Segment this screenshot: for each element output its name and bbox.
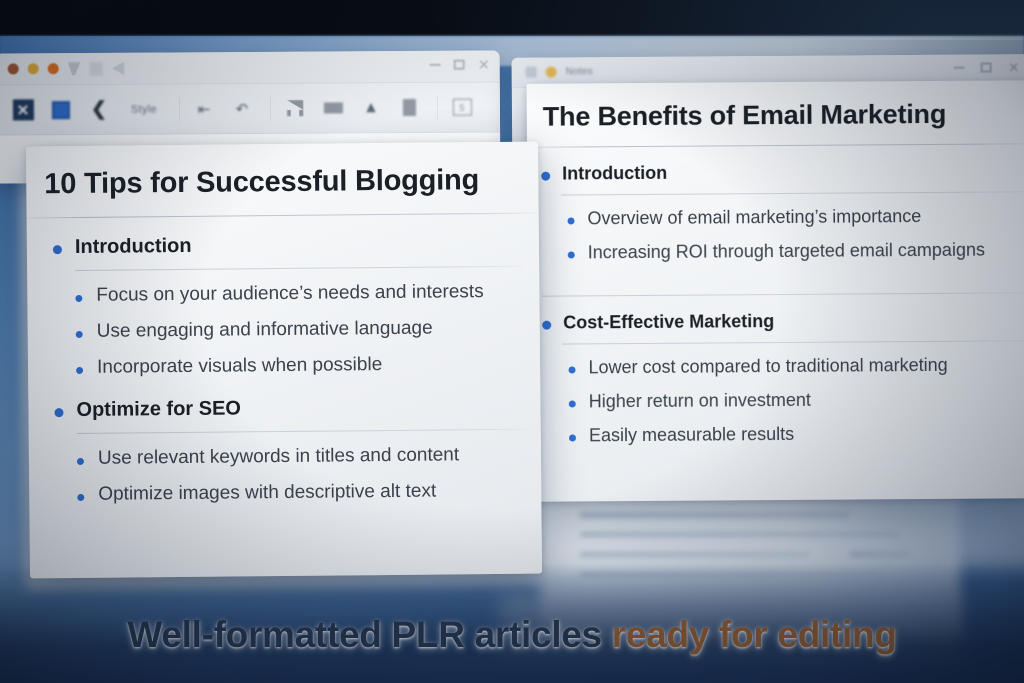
list-bullet-icon — [77, 494, 84, 501]
left-window-controls[interactable]: ✕ — [430, 60, 490, 70]
list-item-text: Focus on your audience’s needs and inter… — [96, 281, 483, 307]
toolbar-separator — [437, 95, 438, 119]
section-heading: Cost-Effective Marketing — [563, 311, 774, 333]
undo-icon[interactable]: ↶ — [225, 93, 259, 123]
section-heading: Optimize for SEO — [76, 397, 241, 422]
document-card-blogging[interactable]: 10 Tips for Successful Blogging Introduc… — [26, 142, 542, 579]
list-item: Use engaging and informative language — [27, 303, 539, 344]
list-item: Lower cost compared to traditional marke… — [528, 341, 1024, 379]
section-heading-row: Cost-Effective Marketing — [528, 293, 1024, 334]
list-bullet-icon — [75, 295, 82, 302]
table-icon[interactable] — [44, 95, 78, 125]
section-heading: Introduction — [562, 163, 667, 185]
document-title: The Benefits of Email Marketing — [527, 80, 1024, 147]
indent-left-icon[interactable]: ⇤ — [187, 94, 221, 124]
page-ghost-icon[interactable] — [90, 61, 103, 75]
screenshot-stage: ✕ ✕ ❮ Style ⇤ ↶ ▲ 5 Notes — [0, 0, 1024, 683]
list-item: Higher return on investment — [529, 375, 1024, 413]
list-item: Focus on your audience’s needs and inter… — [27, 267, 539, 308]
section-heading: Introduction — [75, 235, 192, 259]
delete-icon[interactable] — [392, 92, 426, 122]
toolbar-separator — [270, 96, 271, 120]
list-item-text: Lower cost compared to traditional marke… — [588, 355, 947, 379]
background-top-band — [0, 0, 1024, 40]
minimize-traffic-light[interactable] — [28, 63, 39, 74]
close-button[interactable]: ✕ — [1008, 62, 1020, 72]
right-window-controls[interactable]: ✕ — [954, 62, 1020, 72]
list-bullet-icon — [569, 434, 576, 441]
back-ghost-icon[interactable] — [112, 61, 125, 75]
list-item-text: Higher return on investment — [589, 390, 811, 413]
list-item-text: Use engaging and informative language — [97, 318, 433, 343]
list-bullet-icon — [568, 251, 575, 258]
caption-accent-text: ready for editing — [612, 614, 897, 655]
list-item-text: Overview of email marketing’s importance — [587, 206, 921, 229]
section-bullet-icon — [542, 321, 551, 330]
list-bullet-icon — [77, 458, 84, 465]
check-ghost-icon[interactable] — [68, 62, 81, 76]
list-item-text: Incorporate visuals when possible — [97, 354, 382, 379]
list-bullet-icon — [76, 367, 83, 374]
tab-ghost-icon[interactable] — [526, 67, 537, 78]
list-item: Incorporate visuals when possible — [28, 339, 540, 380]
list-item-text: Optimize images with descriptive alt tex… — [98, 481, 436, 506]
list-bullet-icon — [569, 366, 576, 373]
list-item: Overview of email marketing’s importance — [527, 192, 1024, 230]
toolbar-separator — [179, 97, 180, 121]
left-window-titlebar[interactable]: ✕ — [0, 50, 500, 85]
list-bullet-icon — [76, 331, 83, 338]
save-icon[interactable] — [278, 93, 312, 123]
left-window-toolbar[interactable]: ✕ ❮ Style ⇤ ↶ ▲ 5 — [0, 82, 500, 135]
export-x-icon[interactable]: ✕ — [6, 95, 40, 125]
section-bullet-icon — [541, 172, 550, 181]
section-bullet-icon — [53, 245, 62, 254]
tab-title[interactable]: Notes — [566, 66, 593, 77]
section-bullet-icon — [54, 408, 63, 417]
align-icon[interactable] — [316, 93, 350, 123]
restore-button[interactable] — [981, 62, 992, 72]
section-heading-row: Introduction — [527, 144, 1024, 185]
back-arrow-icon[interactable]: ❮ — [82, 94, 116, 124]
favicon-icon — [546, 67, 557, 78]
list-bullet-icon — [567, 217, 574, 224]
style-label[interactable]: Style — [120, 94, 168, 124]
background-text-line — [580, 552, 810, 557]
list-item: Increasing ROI through targeted email ca… — [528, 226, 1024, 264]
insert-icon[interactable]: ▲ — [354, 93, 388, 123]
close-button[interactable]: ✕ — [478, 60, 490, 70]
list-item: Use relevant keywords in titles and cont… — [29, 430, 541, 471]
caption-strong-text: Well-formatted PLR articles — [127, 614, 601, 655]
document-title: 10 Tips for Successful Blogging — [26, 142, 539, 218]
list-item-text: Use relevant keywords in titles and cont… — [98, 444, 459, 469]
page-number-icon[interactable]: 5 — [445, 92, 479, 122]
list-item: Easily measurable results — [529, 409, 1024, 447]
section-heading-row: Introduction — [27, 214, 539, 260]
close-traffic-light[interactable] — [8, 63, 19, 74]
caption-overlay: Well-formatted PLR articles ready for ed… — [0, 614, 1024, 655]
section-heading-row: Optimize for SEO — [28, 375, 540, 423]
maximize-traffic-light[interactable] — [48, 63, 59, 74]
list-bullet-icon — [569, 400, 576, 407]
list-item-text: Increasing ROI through targeted email ca… — [588, 240, 985, 264]
maximize-button[interactable] — [454, 60, 465, 70]
document-card-email-marketing[interactable]: The Benefits of Email Marketing Introduc… — [527, 80, 1024, 502]
list-item: Optimize images with descriptive alt tex… — [29, 466, 541, 507]
list-item-text: Easily measurable results — [589, 424, 794, 446]
minimize-button[interactable] — [954, 67, 965, 69]
minimize-button[interactable] — [430, 64, 441, 66]
